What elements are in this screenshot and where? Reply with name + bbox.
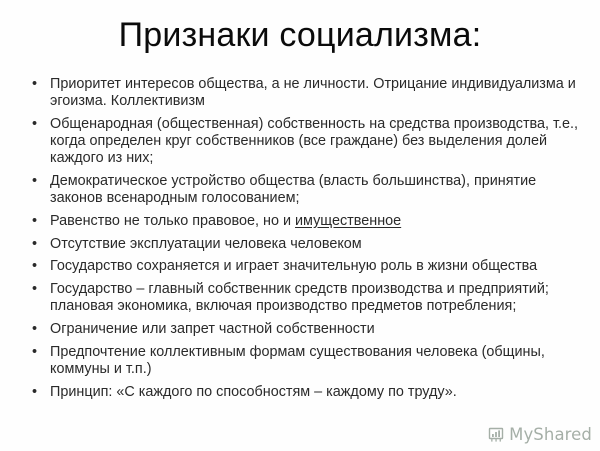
list-item: • Отсутствие эксплуатации человека челов… <box>26 236 588 253</box>
list-item: • Демократическое устройство общества (в… <box>26 173 588 207</box>
list-item-text-emphasis: имущественное <box>295 213 401 229</box>
list-item: • Государство – главный собственник сред… <box>26 281 588 315</box>
list-item-text: Государство – главный собственник средст… <box>50 281 588 315</box>
list-item-text: Государство сохраняется и играет значите… <box>50 258 588 275</box>
bullet-point-icon: • <box>32 76 42 93</box>
bullet-point-icon: • <box>32 236 42 253</box>
list-item-text: Демократическое устройство общества (вла… <box>50 173 588 207</box>
list-item-text: Предпочтение коллективным формам существ… <box>50 344 588 378</box>
bar-chart-icon <box>488 426 505 443</box>
slide-canvas: Признаки социализма: • Приоритет интерес… <box>0 0 600 451</box>
list-item: • Принцип: «С каждого по способностям – … <box>26 384 588 401</box>
list-item-text: Приоритет интересов общества, а не лично… <box>50 76 588 110</box>
list-item: • Предпочтение коллективным формам сущес… <box>26 344 588 378</box>
list-item-text: Ограничение или запрет частной собственн… <box>50 321 588 338</box>
list-item-text: Отсутствие эксплуатации человека человек… <box>50 236 588 253</box>
bullet-point-icon: • <box>32 258 42 275</box>
bullet-point-icon: • <box>32 384 42 401</box>
page-title: Признаки социализма: <box>0 14 600 56</box>
list-item: • Общенародная (общественная) собственно… <box>26 116 588 168</box>
bullet-list: • Приоритет интересов общества, а не лич… <box>26 76 588 401</box>
watermark: MyShared <box>488 426 592 443</box>
bullet-point-icon: • <box>32 213 42 230</box>
list-item-text: Общенародная (общественная) собственност… <box>50 116 588 168</box>
bullet-point-icon: • <box>32 173 42 190</box>
bullet-point-icon: • <box>32 116 42 133</box>
bullet-point-icon: • <box>32 344 42 361</box>
list-item-text: Равенство не только правовое, но и имуще… <box>50 213 588 230</box>
list-item: • Ограничение или запрет частной собстве… <box>26 321 588 338</box>
watermark-label: MyShared <box>509 426 592 443</box>
bullet-point-icon: • <box>32 321 42 338</box>
list-item: • Приоритет интересов общества, а не лич… <box>26 76 588 110</box>
bullet-point-icon: • <box>32 281 42 298</box>
list-item-text-plain: Равенство не только правовое, но и <box>50 213 295 229</box>
list-item: • Государство сохраняется и играет значи… <box>26 258 588 275</box>
list-item: • Равенство не только правовое, но и иму… <box>26 213 588 230</box>
list-item-text: Принцип: «С каждого по способностям – ка… <box>50 384 588 401</box>
